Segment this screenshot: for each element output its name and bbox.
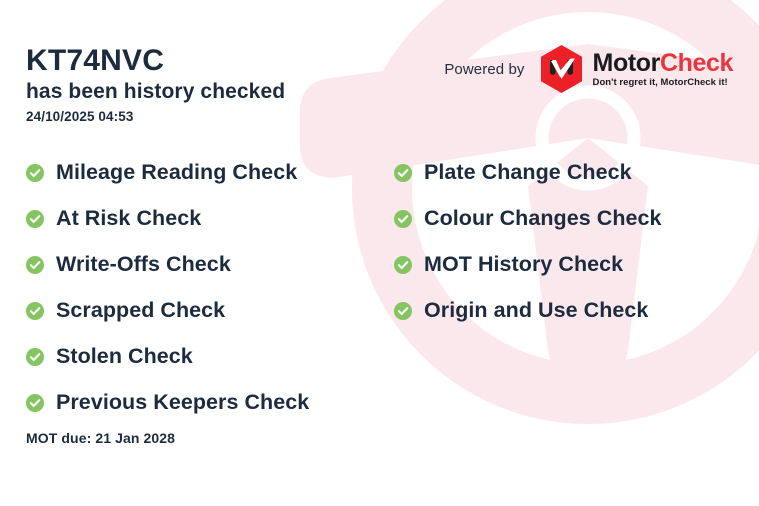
- brand-tagline: Don't regret it, MotorCheck it!: [593, 77, 733, 88]
- footer: MOT due: 21 Jan 2028: [26, 430, 175, 448]
- check-label: Origin and Use Check: [424, 300, 648, 322]
- mot-due-label: MOT due: 21 Jan 2028: [26, 430, 175, 446]
- check-label: Scrapped Check: [56, 300, 225, 322]
- list-item: At Risk Check: [26, 196, 394, 242]
- motorcheck-hexagon-icon: [539, 44, 584, 94]
- check-label: Stolen Check: [56, 346, 193, 368]
- list-item: Colour Changes Check: [394, 196, 733, 242]
- list-item: Stolen Check: [26, 334, 394, 380]
- list-item: Write-Offs Check: [26, 242, 394, 288]
- motorcheck-logo[interactable]: MotorCheck Don't regret it, MotorCheck i…: [539, 44, 733, 94]
- check-circle-icon: [26, 164, 44, 182]
- check-circle-icon: [394, 302, 412, 320]
- vehicle-history-check-card: KT74NVC has been history checked 24/10/2…: [0, 0, 759, 506]
- list-item: Mileage Reading Check: [26, 150, 394, 196]
- checks-section: Mileage Reading Check At Risk Check Writ…: [26, 150, 733, 426]
- check-circle-icon: [26, 210, 44, 228]
- check-circle-icon: [26, 394, 44, 412]
- page-title: KT74NVC: [26, 44, 285, 78]
- powered-by-brand: Powered by MotorCheck Don't regret it, M…: [444, 44, 733, 94]
- check-label: Mileage Reading Check: [56, 162, 297, 184]
- check-circle-icon: [26, 302, 44, 320]
- check-label: Write-Offs Check: [56, 254, 231, 276]
- list-item: Plate Change Check: [394, 150, 733, 196]
- check-label: Previous Keepers Check: [56, 392, 309, 414]
- check-circle-icon: [26, 256, 44, 274]
- check-circle-icon: [394, 256, 412, 274]
- check-circle-icon: [394, 210, 412, 228]
- header-subtitle: has been history checked: [26, 80, 285, 105]
- list-item: MOT History Check: [394, 242, 733, 288]
- header: KT74NVC has been history checked 24/10/2…: [26, 44, 285, 124]
- checks-column-right: Plate Change Check Colour Changes Check …: [394, 150, 733, 334]
- list-item: Scrapped Check: [26, 288, 394, 334]
- list-item: Origin and Use Check: [394, 288, 733, 334]
- list-item: Previous Keepers Check: [26, 380, 394, 426]
- motorcheck-wordmark-block: MotorCheck Don't regret it, MotorCheck i…: [593, 51, 733, 88]
- check-circle-icon: [26, 348, 44, 366]
- powered-by-label: Powered by: [444, 61, 524, 78]
- wordmark-check: Check: [660, 49, 733, 77]
- check-label: At Risk Check: [56, 208, 201, 230]
- check-label: Colour Changes Check: [424, 208, 662, 230]
- check-label: MOT History Check: [424, 254, 623, 276]
- checks-column-left: Mileage Reading Check At Risk Check Writ…: [26, 150, 394, 426]
- motorcheck-wordmark: MotorCheck: [593, 51, 733, 76]
- check-circle-icon: [394, 164, 412, 182]
- wordmark-motor: Motor: [593, 49, 660, 77]
- report-timestamp: 24/10/2025 04:53: [26, 109, 285, 124]
- check-label: Plate Change Check: [424, 162, 632, 184]
